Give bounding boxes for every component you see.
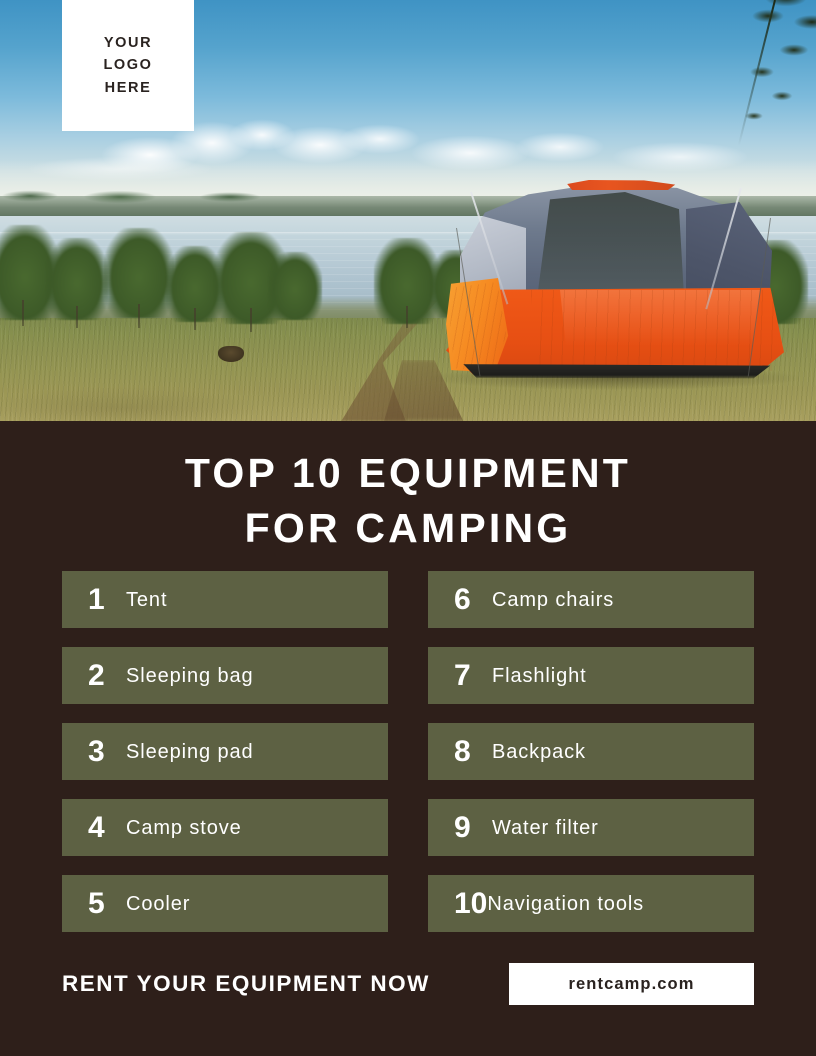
- content-panel: TOP 10 EQUIPMENT FOR CAMPING 1 Tent 6 Ca…: [0, 421, 816, 1056]
- logo-line-2: LOGO: [103, 58, 152, 73]
- tree-trunk: [194, 308, 196, 330]
- list-item-label: Flashlight: [492, 666, 587, 686]
- list-item-label: Camp chairs: [492, 590, 614, 610]
- list-item-number: 2: [88, 661, 126, 691]
- overhanging-branch: [636, 0, 816, 190]
- hero-photo: YOUR LOGO HERE: [0, 0, 816, 421]
- list-item-label: Tent: [126, 590, 167, 610]
- equipment-list: 1 Tent 6 Camp chairs 2 Sleeping bag 7 Fl…: [62, 571, 754, 932]
- list-item[interactable]: 6 Camp chairs: [428, 571, 754, 628]
- logo-line-1: YOUR: [104, 36, 152, 51]
- list-item-label: Camp stove: [126, 818, 242, 838]
- page-title: TOP 10 EQUIPMENT FOR CAMPING: [0, 446, 816, 555]
- list-item[interactable]: 7 Flashlight: [428, 647, 754, 704]
- tent-fabric-folds: [520, 290, 782, 376]
- list-item-number: 5: [88, 889, 126, 919]
- list-item-number: 10: [454, 889, 487, 919]
- website-button[interactable]: rentcamp.com: [509, 963, 754, 1005]
- cta-text: RENT YOUR EQUIPMENT NOW: [62, 971, 430, 997]
- list-item-label: Water filter: [492, 818, 599, 838]
- tent-top-strip: [560, 180, 680, 190]
- list-item-number: 9: [454, 813, 492, 843]
- list-item-number: 8: [454, 737, 492, 767]
- website-url: rentcamp.com: [569, 975, 695, 994]
- list-item-number: 7: [454, 661, 492, 691]
- list-item[interactable]: 3 Sleeping pad: [62, 723, 388, 780]
- list-item[interactable]: 1 Tent: [62, 571, 388, 628]
- tree: [268, 252, 322, 320]
- tree-trunk: [76, 306, 78, 328]
- tree-trunk: [406, 306, 408, 328]
- list-item[interactable]: 8 Backpack: [428, 723, 754, 780]
- footer: RENT YOUR EQUIPMENT NOW rentcamp.com: [62, 960, 754, 1008]
- list-item[interactable]: 10 Navigation tools: [428, 875, 754, 932]
- logo-line-3: HERE: [105, 81, 152, 96]
- list-item-label: Cooler: [126, 894, 190, 914]
- list-item[interactable]: 9 Water filter: [428, 799, 754, 856]
- list-item-label: Sleeping pad: [126, 742, 254, 762]
- dome-tent: [440, 178, 790, 393]
- title-line-1: TOP 10 EQUIPMENT: [0, 446, 816, 501]
- list-item-label: Sleeping bag: [126, 666, 254, 686]
- camping-equipment-poster: YOUR LOGO HERE TOP 10 EQUIPMENT FOR CAMP…: [0, 0, 816, 1056]
- tent-groundsheet: [450, 364, 780, 380]
- title-line-2: FOR CAMPING: [0, 501, 816, 556]
- list-item-number: 6: [454, 585, 492, 615]
- list-item[interactable]: 4 Camp stove: [62, 799, 388, 856]
- tree-trunk: [250, 308, 252, 332]
- list-item-label: Backpack: [492, 742, 586, 762]
- list-item-number: 1: [88, 585, 126, 615]
- list-item-number: 3: [88, 737, 126, 767]
- list-item[interactable]: 2 Sleeping bag: [62, 647, 388, 704]
- tree-trunk: [22, 300, 24, 326]
- tree-stump: [218, 346, 244, 362]
- logo-placeholder[interactable]: YOUR LOGO HERE: [62, 0, 194, 131]
- list-item-number: 4: [88, 813, 126, 843]
- list-item-label: Navigation tools: [487, 894, 644, 914]
- tree-trunk: [138, 304, 140, 328]
- list-item[interactable]: 5 Cooler: [62, 875, 388, 932]
